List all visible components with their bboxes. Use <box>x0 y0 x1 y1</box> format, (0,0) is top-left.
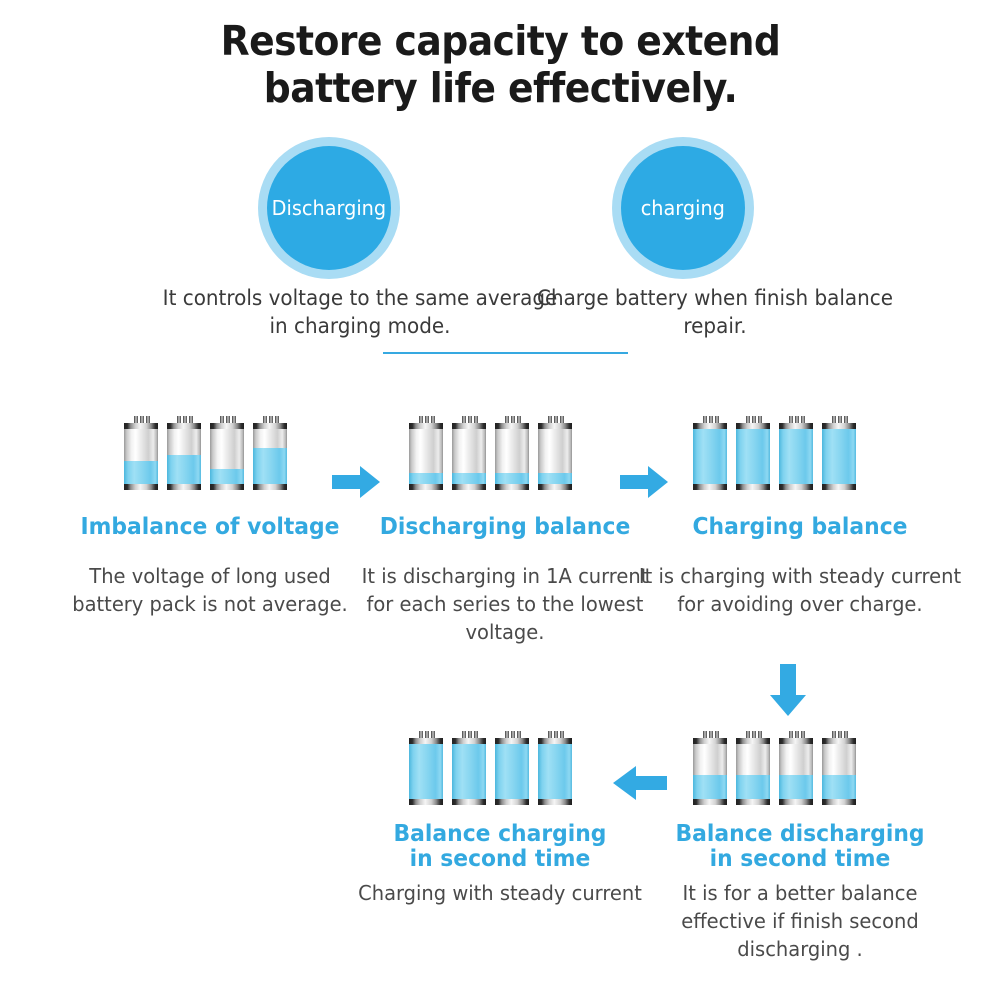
battery-bottom-cap <box>693 484 727 490</box>
flow-node-discharging[interactable]: Discharging <box>267 146 391 270</box>
battery-cell <box>822 414 856 490</box>
battery-group-balance-charging-second <box>409 729 572 805</box>
battery-top-cap <box>124 423 158 429</box>
battery-body <box>693 738 727 805</box>
battery-cell <box>736 414 770 490</box>
battery-body <box>538 423 572 490</box>
battery-body <box>736 738 770 805</box>
battery-cell <box>409 729 443 805</box>
battery-top-cap <box>693 738 727 744</box>
battery-body <box>822 738 856 805</box>
step-heading-balance-discharging-second: Balance discharging in second time <box>639 822 962 872</box>
battery-cell <box>452 414 486 490</box>
battery-charge-fill <box>495 738 529 805</box>
battery-top-cap <box>452 738 486 744</box>
step-heading-line-1: Balance discharging <box>639 822 962 847</box>
battery-body <box>452 738 486 805</box>
title-line-1: Restore capacity to extend <box>40 18 961 65</box>
flow-caption-charging: Charge battery when finish balance repai… <box>535 284 896 340</box>
battery-group-charging-balance <box>693 414 856 490</box>
battery-charge-fill <box>409 738 443 805</box>
battery-cell <box>409 414 443 490</box>
battery-body <box>253 423 287 490</box>
battery-body <box>452 423 486 490</box>
battery-top-cap <box>253 423 287 429</box>
battery-cell <box>167 414 201 490</box>
battery-top-cap <box>452 423 486 429</box>
battery-bottom-cap <box>822 799 856 805</box>
step-body-balance-discharging-second: It is for a better balance effective if … <box>648 879 952 963</box>
battery-top-cap <box>779 423 813 429</box>
battery-cell <box>779 414 813 490</box>
battery-charge-fill <box>693 428 727 490</box>
battery-top-cap <box>210 423 244 429</box>
battery-cell <box>693 729 727 805</box>
battery-top-cap <box>495 423 529 429</box>
step-heading-line-2: in second time <box>639 847 962 872</box>
flow-diagram <box>0 145 1001 280</box>
arrow-right-icon <box>332 464 380 505</box>
battery-bottom-cap <box>495 484 529 490</box>
battery-body <box>495 738 529 805</box>
step-body-discharging-balance: It is discharging in 1A current for each… <box>348 562 662 646</box>
battery-charge-fill <box>538 738 572 805</box>
battery-charge-fill <box>822 428 856 490</box>
battery-bottom-cap <box>495 799 529 805</box>
battery-top-cap <box>409 738 443 744</box>
battery-bottom-cap <box>538 484 572 490</box>
battery-charge-fill <box>452 738 486 805</box>
battery-bottom-cap <box>736 484 770 490</box>
battery-bottom-cap <box>124 484 158 490</box>
battery-bottom-cap <box>167 484 201 490</box>
battery-cell <box>124 414 158 490</box>
battery-top-cap <box>736 738 770 744</box>
step-heading-balance-charging-second: Balance charging in second time <box>348 822 652 872</box>
battery-cell <box>779 729 813 805</box>
flow-node-charging-label: charging <box>641 196 725 220</box>
battery-top-cap <box>538 738 572 744</box>
step-body-charging-balance: It is charging with steady current for a… <box>639 562 962 618</box>
battery-body <box>409 423 443 490</box>
battery-cell <box>693 414 727 490</box>
battery-bottom-cap <box>409 799 443 805</box>
battery-body <box>538 738 572 805</box>
battery-bottom-cap <box>210 484 244 490</box>
flow-caption-discharging: It controls voltage to the same average … <box>161 284 560 340</box>
battery-body <box>736 423 770 490</box>
battery-cell <box>495 414 529 490</box>
battery-bottom-cap <box>822 484 856 490</box>
battery-body <box>210 423 244 490</box>
step-heading-line-1: Balance charging <box>348 822 652 847</box>
battery-body <box>124 423 158 490</box>
battery-top-cap <box>736 423 770 429</box>
battery-body <box>495 423 529 490</box>
battery-bottom-cap <box>779 484 813 490</box>
flow-node-discharging-label: Discharging <box>272 196 386 220</box>
battery-top-cap <box>693 423 727 429</box>
battery-bottom-cap <box>452 484 486 490</box>
battery-cell <box>495 729 529 805</box>
battery-cell <box>538 414 572 490</box>
title-line-2: battery life effectively. <box>40 65 961 112</box>
step-heading-discharging-balance: Discharging balance <box>348 515 662 540</box>
battery-cell <box>210 414 244 490</box>
battery-body <box>409 738 443 805</box>
battery-body <box>779 738 813 805</box>
step-heading-line-2: in second time <box>348 847 652 872</box>
arrow-left-icon <box>613 764 667 807</box>
battery-top-cap <box>538 423 572 429</box>
step-heading-charging-balance: Charging balance <box>643 515 957 540</box>
battery-cell <box>538 729 572 805</box>
battery-group-discharging-balance <box>409 414 572 490</box>
step-body-imbalance: The voltage of long used battery pack is… <box>63 562 358 618</box>
battery-top-cap <box>779 738 813 744</box>
battery-body <box>167 423 201 490</box>
battery-bottom-cap <box>779 799 813 805</box>
battery-bottom-cap <box>253 484 287 490</box>
battery-cell <box>253 414 287 490</box>
battery-bottom-cap <box>693 799 727 805</box>
battery-bottom-cap <box>736 799 770 805</box>
battery-body <box>822 423 856 490</box>
battery-top-cap <box>409 423 443 429</box>
battery-top-cap <box>495 738 529 744</box>
arrow-right-icon <box>620 464 668 505</box>
battery-top-cap <box>167 423 201 429</box>
battery-group-imbalance <box>124 414 287 490</box>
arrow-down-icon <box>768 664 808 721</box>
battery-bottom-cap <box>409 484 443 490</box>
battery-body <box>779 423 813 490</box>
battery-top-cap <box>822 738 856 744</box>
flow-node-charging[interactable]: charging <box>621 146 745 270</box>
battery-top-cap <box>822 423 856 429</box>
battery-cell <box>736 729 770 805</box>
battery-group-balance-discharging-second <box>693 729 856 805</box>
battery-bottom-cap <box>538 799 572 805</box>
battery-charge-fill <box>779 428 813 490</box>
battery-cell <box>452 729 486 805</box>
step-heading-imbalance: Imbalance of voltage <box>53 515 367 540</box>
battery-cell <box>822 729 856 805</box>
page-title: Restore capacity to extend battery life … <box>0 18 1001 112</box>
battery-charge-fill <box>736 428 770 490</box>
step-body-balance-charging-second: Charging with steady current <box>339 879 662 907</box>
battery-body <box>693 423 727 490</box>
flow-connector-line <box>383 352 628 354</box>
battery-bottom-cap <box>452 799 486 805</box>
